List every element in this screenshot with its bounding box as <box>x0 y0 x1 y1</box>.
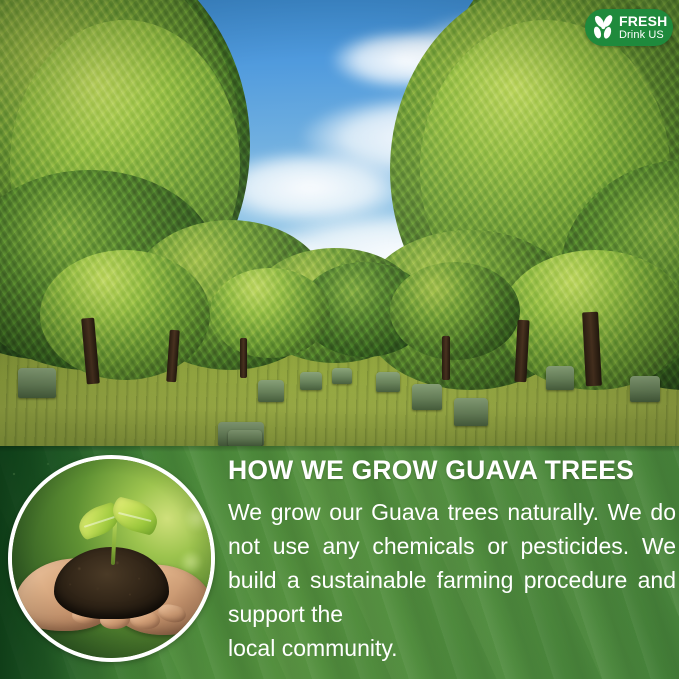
panel-headline: HOW WE GROW GUAVA TREES <box>228 457 634 484</box>
grow-bag <box>228 430 262 446</box>
grow-bag <box>300 372 322 390</box>
fresh-drink-us-logo[interactable]: FRESH Drink US <box>585 9 673 46</box>
grow-bag <box>376 372 400 392</box>
bokeh-light <box>184 505 210 531</box>
logo-line-drink-us: Drink US <box>619 30 667 41</box>
grow-bag <box>332 368 352 384</box>
panel-body-last-line: local community. <box>228 631 676 665</box>
grow-bag <box>258 380 284 402</box>
tree-canopy-distant <box>210 268 330 358</box>
ad-creative-page: FRESH Drink US <box>0 0 679 679</box>
panel-body-main: We grow our Guava trees naturally. We do… <box>228 499 676 627</box>
how-we-grow-panel: HOW WE GROW GUAVA TREES We grow our Guav… <box>0 446 679 679</box>
tree-trunk <box>240 338 247 378</box>
guava-orchard-photo <box>0 0 679 446</box>
grow-bag <box>18 368 56 398</box>
tree-canopy <box>40 250 210 380</box>
tree-canopy-distant <box>390 262 520 360</box>
grow-bag <box>630 376 660 402</box>
hands-holding-seedling-image <box>8 455 215 662</box>
leaf-cluster-icon <box>590 13 617 43</box>
grow-bag <box>454 398 488 426</box>
tree-trunk <box>442 336 450 380</box>
grow-bag <box>546 366 574 390</box>
panel-top-edge <box>0 446 679 452</box>
grow-bag <box>412 384 442 410</box>
panel-body-text: We grow our Guava trees naturally. We do… <box>228 495 676 665</box>
logo-line-fresh: FRESH <box>619 14 667 28</box>
